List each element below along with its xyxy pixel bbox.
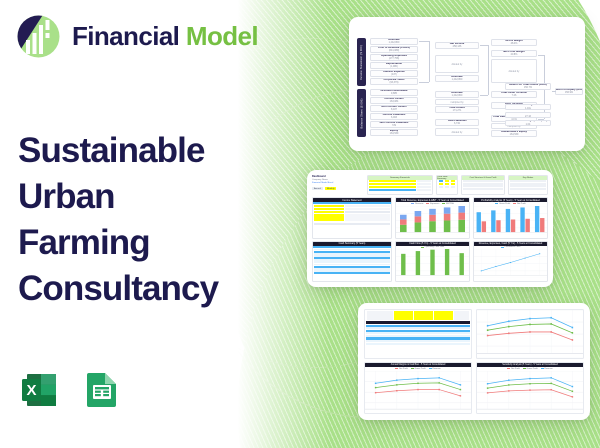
tree-node: Total Liabilities6,732 [435,119,479,126]
tree-node: Leverage1.04x [505,104,551,110]
tree-node: Net Income258,136 [435,42,479,49]
dashboard-bottom-row: Cash Summary (5 Years) [312,241,548,283]
annual-revenue-expenses-chart-panel [476,309,584,359]
period-button-monthly[interactable]: Monthly [325,187,337,190]
dashboard-middle-row: Income Statement Total Revenue, Expenses… [312,197,548,239]
tree-operator-box: divided by [435,55,479,73]
dashboard-link[interactable]: Financial Model Excel [312,182,364,184]
tree-node: Cost of Revenue (COGS)(641,089) [370,46,418,53]
cost-structure-panel: Cost Structure & Gross Profit [461,175,505,195]
tree-connector [480,45,488,46]
tree-node: Accounts Receivable9,885 [370,89,418,96]
balance-sheet-band: Balance Sheet ($ 000) [357,89,366,137]
svg-text:X: X [26,382,36,399]
tree-node: Current Liabilities6,003 [370,113,418,120]
line-chart [477,310,583,358]
tree-connector [419,82,429,83]
dashboard-titleblock: Dashboard Company Name Financial Model E… [312,175,364,195]
tree-node: Operating Expenses(277,758) [370,54,418,61]
title-line-4: Consultancy [18,269,218,308]
period-button-annual[interactable]: Annual [312,187,323,190]
tree-node: Current Ratio27.16 [505,112,551,118]
profitability-chart-panel: Profitability Analysis (5 Years) - 5 Yea… [473,197,548,239]
annual-margins-chart-panel: Annual Margins & Cashflow - 5 Years at C… [364,362,472,414]
brand-name-part2: Model [186,21,258,51]
line-charts-body: Annual Margins & Cashflow - 5 Years at C… [364,309,584,414]
tree-node: Financial Leverage (multiplier)1.04 [505,120,551,126]
tree-node: Gross Margin48.4% [491,39,537,46]
tree-connector [429,41,430,82]
cumulative-line-chart [474,249,547,278]
panel-header: Profitability Analysis (5 Years) - 5 Yea… [474,198,547,202]
tree-node: Corporate Taxes(63,379) [370,78,418,85]
line-charts-top-row [364,309,584,359]
tree-node: Revenue1,242,800 [435,91,479,98]
cash-summary-panel: Cash Summary (5 Years) [312,241,392,283]
excel-icon: X [18,368,62,412]
brand-logo: Financial Model [16,14,258,59]
dashboard-title: Dashboard [312,175,364,178]
google-sheets-icon [80,368,124,412]
stacked-bar-chart [396,206,469,235]
line-chart [477,371,583,413]
tree-node-roe: Return on Equity (ROE)156.9% [555,88,583,95]
grouped-bar-chart [474,206,547,235]
tree-node: Non Current Assets8,187 [370,105,418,112]
tree-operator-box: divided by [491,59,537,83]
tree-node: Current Assets163,084 [370,97,418,104]
tree-operator-box: multiplied by [435,99,479,105]
tree-node: Total Asset Turnover7.26 [491,91,537,98]
financial-model-circle-bars-logo [16,14,61,59]
tree-operator-box: divided by [435,128,479,136]
panel-header: Revenue, Expenses, Cash (5 Yrs) - 5 Year… [474,242,547,246]
tree-node: Net Profit Margin20.8% [491,50,537,57]
dashboard-subtitle: Company Name [312,179,364,181]
revenue-expenses-ebit-chart-panel: Total Revenue, Expenses & EBIT - 5 Years… [395,197,470,239]
title-line-1: Sustainable [18,131,205,170]
tree-node: Total Assets171,271 [435,106,479,113]
financial-dashboard-screenshot[interactable]: Dashboard Company Name Financial Model E… [307,170,553,287]
slide-canvas: Financial Model Sustainable Urban Farmin… [0,0,600,448]
page-title: Sustainable Urban Farming Consultancy [18,128,288,311]
tree-node: Interest Expense(437) [370,70,418,77]
key-ratios-panel: Key Ratios [508,175,548,195]
tree-node: Revenue1,242,800 [370,38,418,45]
summary-financials-panel: Summary Financials [367,175,433,195]
tree-node: Revenue1,242,800 [435,75,479,82]
dashboard-header-row: Dashboard Company Name Financial Model E… [312,175,548,195]
cashflow-summary-panel: Cash Flow Summary [436,175,458,195]
tree-connector [552,91,556,92]
financial-ratio-tree-screenshot[interactable]: Income Statement ($ 000) Balance Sheet (… [349,17,585,151]
line-chart [365,371,471,413]
panel-header: Cash Flow Summary [437,176,457,180]
income-statement-panel: Income Statement [312,197,392,239]
line-charts-bottom-row: Annual Margins & Cashflow - 5 Years at C… [364,362,584,414]
tree-connector [488,45,489,95]
tree-connector [419,41,429,42]
sensitivity-line-charts-screenshot[interactable]: Annual Margins & Cashflow - 5 Years at C… [358,303,590,420]
tree-node: Non Current Liabilities729 [370,121,418,128]
tree-node: Shareholders Equity164,539 [491,130,537,137]
ratio-tree-diagram: Income Statement ($ 000) Balance Sheet (… [355,25,579,143]
tree-node: Equity164,539 [370,129,418,136]
sensitivity-chart-panel: Sensitivity Analysis (5 Years) - 5 Years… [476,362,584,414]
cumulative-cash-chart-panel: Revenue, Expenses, Cash (5 Yrs) - 5 Year… [473,241,548,283]
brand-name: Financial Model [72,21,258,52]
title-line-2: Urban [18,177,115,216]
file-format-icons: X [18,368,124,412]
title-line-3: Farming [18,223,150,262]
tree-connector [480,95,488,96]
tree-node: Depreciation(1,980) [370,62,418,69]
cashflow-bar-chart [396,249,469,278]
cashflow-chart-panel: Cash Flow (5 Yrs) - 5 Years at Consolida… [395,241,470,283]
panel-header: Total Revenue, Expenses & EBIT - 5 Years… [396,198,469,202]
tree-node-roa: Return on Total Assets (ROA)150.7% [505,83,551,90]
brand-name-part1: Financial [72,21,186,51]
assumptions-table-panel [364,309,472,359]
dashboard-body: Dashboard Company Name Financial Model E… [312,175,548,282]
income-statement-band: Income Statement ($ 000) [357,38,366,86]
